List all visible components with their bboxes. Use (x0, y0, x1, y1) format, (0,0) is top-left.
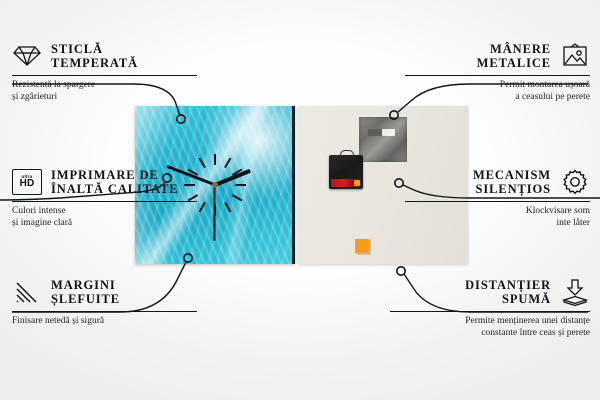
callout-imprimare-inalta-calitate: ultra HD IMPRIMARE DE ÎNALTĂ CALITATE Cu… (12, 166, 197, 229)
callout-divider (405, 201, 590, 202)
callout-title-line1: IMPRIMARE DE (51, 168, 159, 182)
callout-subtitle-line1: Permit montarea ușoară (500, 80, 590, 90)
clock-mechanism-box (329, 155, 363, 189)
callout-subtitle-line2: inte låter (557, 218, 591, 228)
callout-title-line2: ȘLEFUITE (51, 292, 120, 306)
callout-subtitle-line2: a ceasului pe perete (515, 92, 590, 102)
callout-distantier-spuma: DISTANȚIER SPUMĂ Permite menținerea unei… (390, 276, 590, 339)
picture-hanger-icon (560, 41, 590, 71)
callout-title-line1: DISTANȚIER (465, 278, 551, 292)
connector-endpoint-distantier (397, 267, 405, 275)
diamond-icon (12, 41, 42, 71)
callout-head: ultra HD IMPRIMARE DE ÎNALTĂ CALITATE (12, 166, 197, 198)
battery (331, 179, 361, 187)
callout-subtitle-line1: Permite menținerea unei distanțe (465, 316, 590, 326)
callout-subtitle: Klockvisare som inte låter (405, 206, 590, 229)
callout-title-line2: ÎNALTĂ CALITATE (51, 182, 179, 196)
callout-head: STICLĂ TEMPERATĂ (12, 40, 197, 72)
polished-edges-icon (12, 277, 42, 307)
callout-title-line1: MECANISM (473, 168, 551, 182)
callout-subtitle-line1: Finisare netedă și sigură (12, 316, 104, 326)
callout-title-line2: METALICE (477, 56, 551, 70)
callout-subtitle: Permit montarea ușoară a ceasului pe per… (405, 80, 590, 103)
mechanism-hanging-loop (340, 150, 354, 159)
callout-head: MÂNERE METALICE (405, 40, 590, 72)
gear-icon (560, 167, 590, 197)
clock-hand-hub (212, 182, 218, 188)
callout-title-line1: MARGINI (51, 278, 116, 292)
callout-title-line2: SILENȚIOS (476, 182, 552, 196)
callout-subtitle: Permite menținerea unei distanțe constan… (390, 316, 590, 339)
hanger-slot (368, 129, 395, 136)
callout-title: STICLĂ TEMPERATĂ (51, 42, 138, 70)
callout-divider (390, 311, 590, 312)
callout-head: DISTANȚIER SPUMĂ (390, 276, 590, 308)
foam-spacer-pad (355, 239, 369, 253)
callout-title-line1: MÂNERE (490, 42, 551, 56)
callout-title: IMPRIMARE DE ÎNALTĂ CALITATE (51, 168, 179, 196)
callout-title: MÂNERE METALICE (477, 42, 551, 70)
callout-title-line2: TEMPERATĂ (51, 56, 138, 70)
clock-second-hand (214, 185, 216, 241)
metal-hanger-plate (359, 117, 407, 162)
callout-subtitle: Rezistentă la spargere și zgârieturi (12, 80, 197, 103)
product-infographic: STICLĂ TEMPERATĂ Rezistentă la spargere … (0, 0, 600, 400)
callout-mecanism-silentios: MECANISM SILENȚIOS Klockvisare som inte … (405, 166, 590, 229)
battery-plus-terminal (354, 180, 360, 186)
callout-divider (12, 201, 197, 202)
callout-head: MARGINI ȘLEFUITE (12, 276, 197, 308)
hd-label: HD (20, 179, 35, 189)
callout-divider (12, 311, 197, 312)
callout-sticla-temperata: STICLĂ TEMPERATĂ Rezistentă la spargere … (12, 40, 197, 103)
callout-subtitle-line2: și imagine clară (12, 218, 72, 228)
callout-divider (405, 75, 590, 76)
ultra-hd-badge-icon: ultra HD (12, 167, 42, 197)
clock-hour-hand (214, 169, 251, 187)
callout-subtitle-line1: Culori intense (12, 206, 66, 216)
callout-subtitle: Culori intense și imagine clară (12, 206, 197, 229)
callout-margini-slefuite: MARGINI ȘLEFUITE Finisare netedă și sigu… (12, 276, 197, 328)
foam-spacer-icon (560, 277, 590, 307)
callout-title-line1: STICLĂ (51, 42, 103, 56)
callout-title: MECANISM SILENȚIOS (473, 168, 551, 196)
callout-subtitle: Finisare netedă și sigură (12, 316, 197, 328)
callout-divider (12, 75, 197, 76)
callout-manere-metalice: MÂNERE METALICE Permit montarea ușoară a… (405, 40, 590, 103)
callout-subtitle-line1: Klockvisare som (526, 206, 590, 216)
callout-subtitle-line1: Rezistentă la spargere (12, 80, 95, 90)
callout-head: MECANISM SILENȚIOS (405, 166, 590, 198)
callout-title: MARGINI ȘLEFUITE (51, 278, 120, 306)
callout-subtitle-line2: constante între ceas și perete (481, 328, 590, 338)
callout-subtitle-line2: și zgârieturi (12, 92, 57, 102)
callout-title-line2: SPUMĂ (502, 292, 551, 306)
callout-title: DISTANȚIER SPUMĂ (465, 278, 551, 306)
